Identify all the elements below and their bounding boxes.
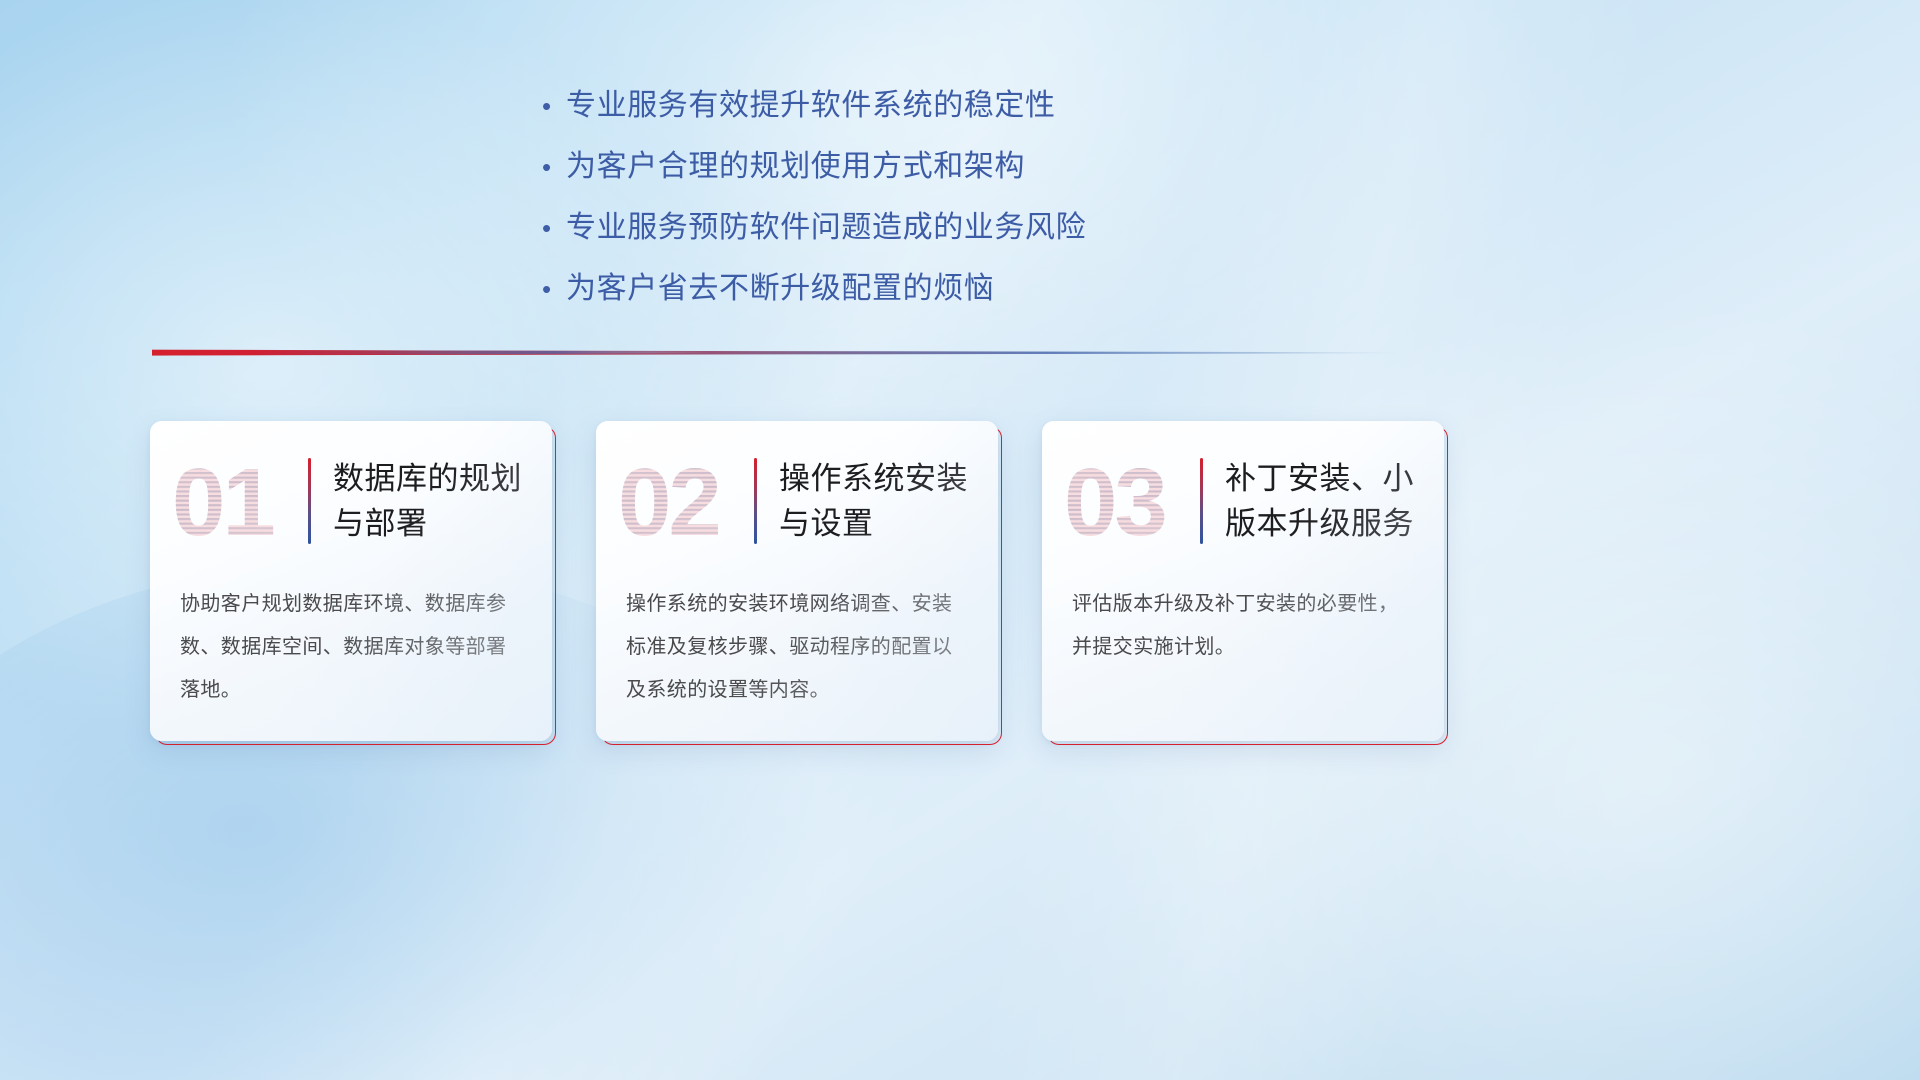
svg-text:03: 03	[1064, 449, 1165, 553]
card-title: 操作系统安装与设置	[779, 456, 972, 546]
card-inner: 03 03 03 补丁安装、小版本升级服务 评估版本升级及补丁安装的必要性，并提…	[1042, 421, 1444, 741]
card-title: 补丁安装、小版本升级服务	[1225, 456, 1418, 546]
striped-number-icon: 03 03 03	[1060, 449, 1188, 553]
card-header: 02 02 02 操作系统安装与设置	[596, 421, 998, 561]
card-description: 评估版本升级及补丁安装的必要性，并提交实施计划。	[1042, 561, 1444, 669]
card-inner: 01 01 01 数据库的规划与部署 协助客户规划数据库环境、数据库参数、数据库…	[150, 421, 552, 741]
bullet-text: 专业服务有效提升软件系统的稳定性	[566, 84, 1056, 128]
card-accent-rule	[1200, 458, 1203, 544]
card-title: 数据库的规划与部署	[333, 456, 526, 546]
bullet-marker-icon: •	[536, 84, 566, 128]
card-header: 03 03 03 补丁安装、小版本升级服务	[1042, 421, 1444, 561]
card-header: 01 01 01 数据库的规划与部署	[150, 421, 552, 561]
bullet-text: 为客户省去不断升级配置的烦恼	[566, 267, 994, 311]
list-item: • 为客户省去不断升级配置的烦恼	[536, 267, 1516, 311]
bullet-text: 为客户合理的规划使用方式和架构	[566, 145, 1025, 189]
striped-number-icon: 01 01 01	[168, 449, 296, 553]
bullet-marker-icon: •	[536, 145, 566, 189]
card-number-graphic: 02 02 02	[614, 449, 742, 553]
striped-number-icon: 02 02 02	[614, 449, 742, 553]
benefits-bullet-list: • 专业服务有效提升软件系统的稳定性 • 为客户合理的规划使用方式和架构 • 专…	[536, 84, 1516, 328]
card-number-graphic: 01 01 01	[168, 449, 296, 553]
service-card[interactable]: 01 01 01 数据库的规划与部署 协助客户规划数据库环境、数据库参数、数据库…	[150, 421, 552, 741]
service-card[interactable]: 02 02 02 操作系统安装与设置 操作系统的安装环境网络调查、安装标准及复核…	[596, 421, 998, 741]
bullet-text: 专业服务预防软件问题造成的业务风险	[566, 206, 1086, 250]
card-description: 协助客户规划数据库环境、数据库参数、数据库空间、数据库对象等部署落地。	[150, 561, 552, 712]
bullet-marker-icon: •	[536, 206, 566, 250]
section-divider	[152, 340, 1404, 364]
card-description: 操作系统的安装环境网络调查、安装标准及复核步骤、驱动程序的配置以及系统的设置等内…	[596, 561, 998, 712]
tapered-divider-icon	[152, 340, 1404, 364]
svg-text:02: 02	[618, 449, 719, 553]
list-item: • 为客户合理的规划使用方式和架构	[536, 145, 1516, 189]
list-item: • 专业服务预防软件问题造成的业务风险	[536, 206, 1516, 250]
svg-text:01: 01	[172, 449, 273, 553]
card-accent-rule	[754, 458, 757, 544]
card-number-graphic: 03 03 03	[1060, 449, 1188, 553]
list-item: • 专业服务有效提升软件系统的稳定性	[536, 84, 1516, 128]
slide-canvas: • 专业服务有效提升软件系统的稳定性 • 为客户合理的规划使用方式和架构 • 专…	[0, 0, 1920, 1080]
service-card-group: 01 01 01 数据库的规划与部署 协助客户规划数据库环境、数据库参数、数据库…	[150, 421, 1770, 741]
bullet-marker-icon: •	[536, 267, 566, 311]
card-inner: 02 02 02 操作系统安装与设置 操作系统的安装环境网络调查、安装标准及复核…	[596, 421, 998, 741]
service-card[interactable]: 03 03 03 补丁安装、小版本升级服务 评估版本升级及补丁安装的必要性，并提…	[1042, 421, 1444, 741]
card-accent-rule	[308, 458, 311, 544]
